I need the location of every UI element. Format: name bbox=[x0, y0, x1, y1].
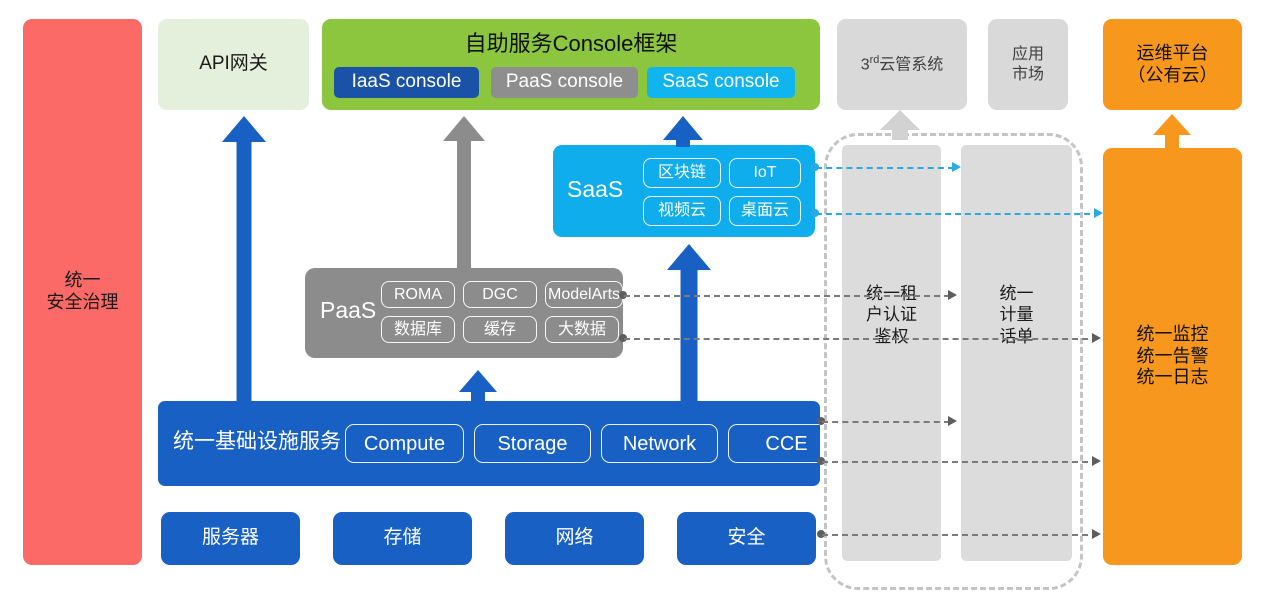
arrow-paas-to-console bbox=[443, 116, 485, 268]
iaas-item-storage-label: Storage bbox=[497, 432, 567, 456]
saas-console-label: SaaS console bbox=[662, 71, 779, 94]
hardware-storage-label: 存储 bbox=[383, 527, 421, 550]
connector-paas-to-auth-arrowhead bbox=[948, 290, 957, 300]
ops-platform-line1: 运维平台 bbox=[1128, 43, 1218, 65]
connector-paas-to-auth bbox=[624, 295, 950, 297]
monitoring-line1: 统一监控 bbox=[1137, 324, 1209, 346]
ops-platform-line2: （公有云） bbox=[1128, 65, 1218, 87]
iaas-console-label: IaaS console bbox=[352, 71, 462, 94]
app-market-line2: 市场 bbox=[1012, 65, 1044, 84]
paas-console-chip[interactable]: PaaS console bbox=[491, 67, 638, 98]
saas-item-desktop-cloud-label: 桌面云 bbox=[741, 201, 789, 220]
arrow-iaas-to-api-gateway bbox=[222, 116, 266, 401]
billing-line3: 话单 bbox=[961, 326, 1072, 347]
saas-item-blockchain-label: 区块链 bbox=[658, 163, 706, 182]
iaas-item-storage[interactable]: Storage bbox=[474, 424, 591, 463]
iaas-item-cce-label: CCE bbox=[765, 432, 807, 456]
third-party-prefix: 3 bbox=[861, 57, 870, 74]
arrow-iaas-to-paas bbox=[459, 370, 497, 401]
saas-item-iot-label: IoT bbox=[753, 163, 776, 182]
saas-item-blockchain[interactable]: 区块链 bbox=[643, 158, 721, 188]
third-party-cloud-mgmt-panel: 3rd云管系统 bbox=[837, 19, 967, 110]
app-market-panel: 应用 市场 bbox=[988, 19, 1068, 110]
paas-item-database[interactable]: 数据库 bbox=[381, 316, 455, 343]
unified-infrastructure-bar: 统一基础设施服务 Compute Storage Network CCE bbox=[158, 401, 820, 486]
saas-item-video-cloud-label: 视频云 bbox=[658, 201, 706, 220]
arrow-shared-to-third-party bbox=[880, 110, 920, 140]
connector-paas-to-monitoring-arrowhead bbox=[1092, 333, 1101, 343]
paas-console-label: PaaS console bbox=[506, 71, 623, 94]
third-party-cloud-mgmt-label: 3rd云管系统 bbox=[861, 54, 944, 75]
console-frame-title: 自助服务Console框架 bbox=[322, 31, 820, 57]
connector-paas-to-monitoring bbox=[624, 338, 1098, 340]
third-party-suffix: 云管系统 bbox=[879, 57, 943, 74]
saas-item-desktop-cloud[interactable]: 桌面云 bbox=[729, 196, 801, 226]
unified-security-line2: 安全治理 bbox=[47, 292, 119, 314]
connector-saas-to-monitoring bbox=[816, 213, 1100, 215]
paas-panel: PaaS ROMA DGC ModelArts 数据库 缓存 大数据 bbox=[305, 268, 623, 358]
app-market-line1: 应用 bbox=[1012, 45, 1044, 64]
api-gateway-panel: API网关 bbox=[158, 19, 309, 110]
paas-item-roma-label: ROMA bbox=[394, 285, 442, 304]
unified-billing-column bbox=[961, 145, 1072, 561]
iaas-item-network[interactable]: Network bbox=[601, 424, 718, 463]
connector-iaas-to-monitoring bbox=[822, 461, 1098, 463]
hardware-security-box: 安全 bbox=[677, 512, 816, 565]
monitoring-line2: 统一告警 bbox=[1137, 346, 1209, 368]
saas-console-chip[interactable]: SaaS console bbox=[647, 67, 795, 98]
saas-item-video-cloud[interactable]: 视频云 bbox=[643, 196, 721, 226]
paas-item-modelarts[interactable]: ModelArts bbox=[545, 281, 623, 308]
iaas-item-compute[interactable]: Compute bbox=[345, 424, 464, 463]
connector-saas-to-auth-arrowhead bbox=[952, 162, 961, 172]
hardware-network-box: 网络 bbox=[505, 512, 644, 565]
hardware-server-box: 服务器 bbox=[161, 512, 300, 565]
connector-saas-to-auth bbox=[816, 167, 954, 169]
hardware-storage-box: 存储 bbox=[333, 512, 472, 565]
paas-item-roma[interactable]: ROMA bbox=[381, 281, 455, 308]
auth-line1: 统一租 bbox=[842, 283, 941, 304]
connector-hardware-to-monitoring-arrowhead bbox=[1092, 529, 1101, 539]
hardware-security-label: 安全 bbox=[727, 527, 765, 550]
iaas-item-compute-label: Compute bbox=[364, 432, 445, 456]
paas-item-bigdata-label: 大数据 bbox=[558, 320, 606, 339]
self-service-console-frame: 自助服务Console框架 IaaS console PaaS console … bbox=[322, 19, 820, 110]
arrow-monitoring-to-ops-platform bbox=[1153, 114, 1191, 149]
auth-line2: 户认证 bbox=[842, 304, 941, 325]
auth-line3: 鉴权 bbox=[842, 326, 941, 347]
unified-security-line1: 统一 bbox=[47, 270, 119, 292]
unified-security-governance-panel: 统一 安全治理 bbox=[23, 19, 142, 565]
paas-title: PaaS bbox=[320, 297, 376, 325]
saas-title: SaaS bbox=[567, 176, 623, 204]
billing-line2: 计量 bbox=[961, 304, 1072, 325]
connector-hardware-to-monitoring bbox=[822, 534, 1098, 536]
paas-item-cache-label: 缓存 bbox=[484, 320, 516, 339]
connector-iaas-to-monitoring-arrowhead bbox=[1092, 456, 1101, 466]
paas-item-bigdata[interactable]: 大数据 bbox=[545, 316, 619, 343]
paas-item-dgc-label: DGC bbox=[482, 285, 518, 304]
paas-item-cache[interactable]: 缓存 bbox=[463, 316, 537, 343]
arrow-saas-to-console bbox=[663, 116, 703, 147]
ops-platform-panel: 运维平台 （公有云） bbox=[1103, 19, 1242, 110]
saas-panel: SaaS 区块链 IoT 视频云 桌面云 bbox=[553, 145, 815, 237]
paas-item-dgc[interactable]: DGC bbox=[463, 281, 537, 308]
architecture-diagram: 统一 安全治理 API网关 自助服务Console框架 IaaS console… bbox=[0, 0, 1265, 605]
third-party-sup: rd bbox=[870, 54, 880, 66]
monitoring-line3: 统一日志 bbox=[1137, 367, 1209, 389]
billing-line1: 统一 bbox=[961, 283, 1072, 304]
saas-item-iot[interactable]: IoT bbox=[729, 158, 801, 188]
connector-iaas-to-auth bbox=[822, 421, 950, 423]
unified-monitoring-column: 统一监控 统一告警 统一日志 bbox=[1103, 148, 1242, 565]
iaas-title: 统一基础设施服务 bbox=[173, 429, 341, 454]
unified-tenant-auth-column bbox=[842, 145, 941, 561]
api-gateway-label: API网关 bbox=[199, 53, 268, 76]
hardware-network-label: 网络 bbox=[555, 527, 593, 550]
iaas-console-chip[interactable]: IaaS console bbox=[334, 67, 479, 98]
paas-item-database-label: 数据库 bbox=[394, 320, 442, 339]
connector-iaas-to-auth-arrowhead bbox=[948, 416, 957, 426]
arrow-iaas-to-saas bbox=[667, 244, 711, 401]
connector-saas-to-monitoring-arrowhead bbox=[1094, 208, 1103, 218]
iaas-item-network-label: Network bbox=[623, 432, 696, 456]
hardware-server-label: 服务器 bbox=[202, 527, 259, 550]
paas-item-modelarts-label: ModelArts bbox=[548, 285, 620, 304]
